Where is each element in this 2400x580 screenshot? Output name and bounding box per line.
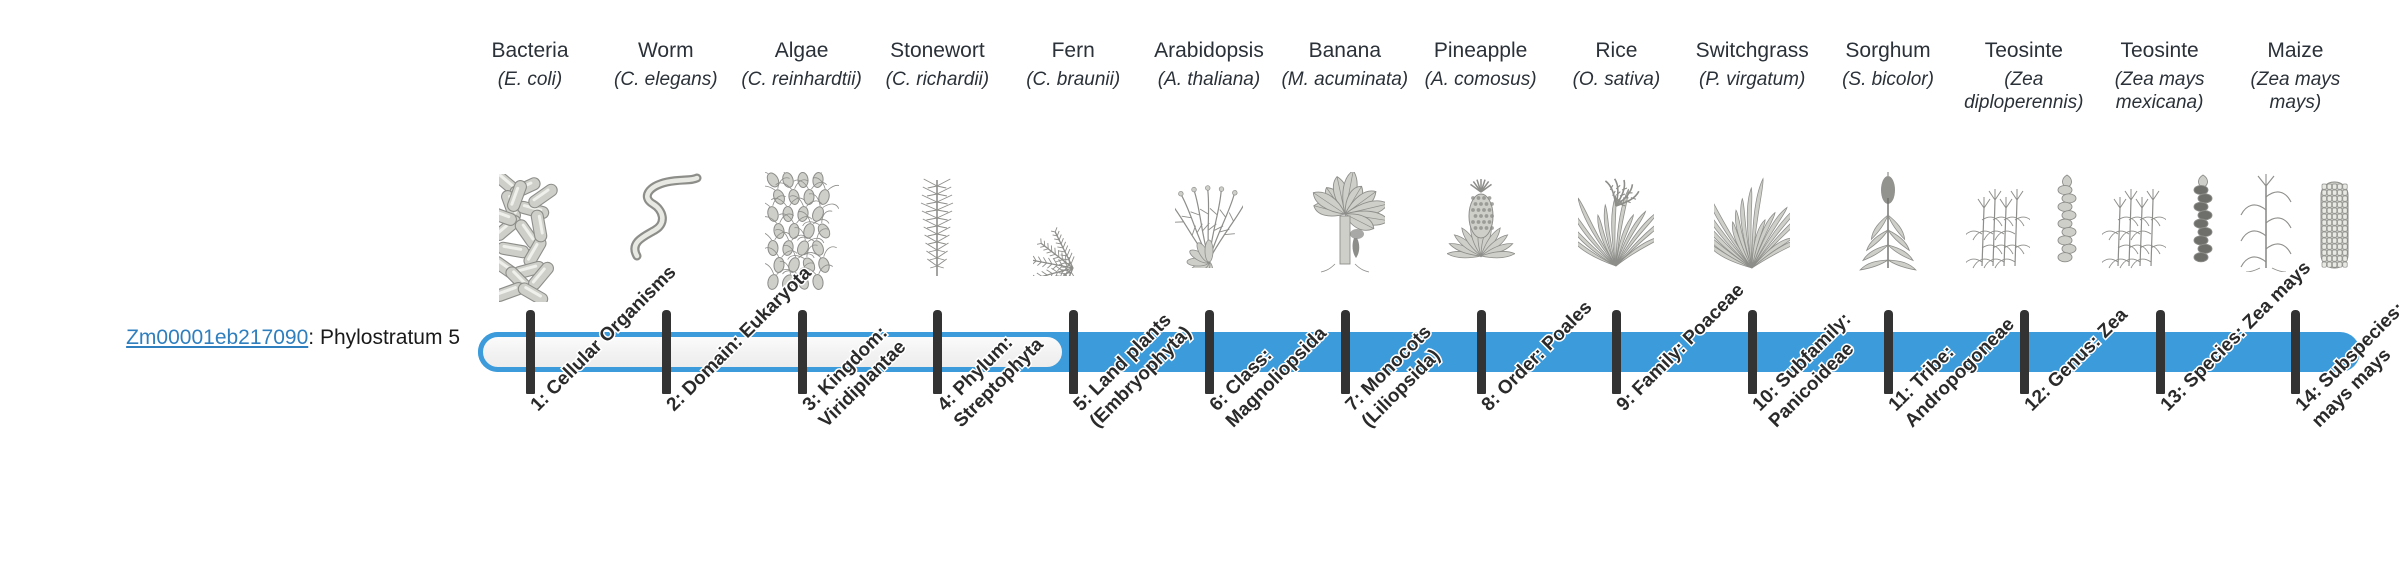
phylostratigraphy-figure: Zm00001eb217090: Phylostratum 5 Bacteria… <box>0 0 2400 580</box>
species-common-name: Teosinte <box>2092 38 2228 63</box>
gene-label-separator: : <box>308 326 320 349</box>
species-common-name: Arabidopsis <box>1141 38 1277 63</box>
phylostratum-value: Phylostratum 5 <box>320 326 460 349</box>
gene-phylostratum-label: Zm00001eb217090: Phylostratum 5 <box>30 325 460 351</box>
phylostratum-tick-7[interactable] <box>1341 310 1350 394</box>
species-scientific-name: (C. braunii) <box>1005 68 1141 91</box>
species-scientific-name: (C. elegans) <box>598 68 734 91</box>
phylostratum-tick-8[interactable] <box>1477 310 1486 394</box>
species-scientific-name: (O. sativa) <box>1548 68 1684 91</box>
algae-cells-illustration <box>734 172 870 267</box>
species-scientific-name: (S. bicolor) <box>1820 68 1956 91</box>
phylostratum-tick-12[interactable] <box>2020 310 2029 394</box>
maize-ear-illustration <box>2227 172 2363 267</box>
species-common-name: Fern <box>1005 38 1141 63</box>
phylostratum-tick-11[interactable] <box>1884 310 1893 394</box>
phylostratum-tick-10[interactable] <box>1748 310 1757 394</box>
phylostratum-tick-3[interactable] <box>798 310 807 394</box>
rice-plant-illustration <box>1548 172 1684 267</box>
switchgrass-illustration <box>1684 172 1820 267</box>
pineapple-illustration <box>1413 172 1549 267</box>
phylostratum-tick-14[interactable] <box>2291 310 2300 394</box>
species-scientific-name: (E. coli) <box>462 68 598 91</box>
species-common-name: Banana <box>1277 38 1413 63</box>
phylostratum-tick-2[interactable] <box>662 310 671 394</box>
species-scientific-name: (C. richardii) <box>869 68 1005 91</box>
species-common-name: Worm <box>598 38 734 63</box>
phylostratum-tick-9[interactable] <box>1612 310 1621 394</box>
species-common-name: Sorghum <box>1820 38 1956 63</box>
species-common-name: Pineapple <box>1413 38 1549 63</box>
phylostratum-tick-5[interactable] <box>1069 310 1078 394</box>
species-common-name: Algae <box>734 38 870 63</box>
species-common-name: Rice <box>1548 38 1684 63</box>
species-common-name: Switchgrass <box>1684 38 1820 63</box>
teosinte-mexicana-illustration <box>2092 172 2228 267</box>
bacteria-rods-illustration <box>462 172 598 267</box>
phylostratum-tick-13[interactable] <box>2156 310 2165 394</box>
banana-palm-illustration <box>1277 172 1413 267</box>
teosinte-diploperennis-illustration <box>1956 172 2092 267</box>
gene-id-link[interactable]: Zm00001eb217090 <box>126 326 308 349</box>
phylostratum-tick-4[interactable] <box>933 310 942 394</box>
species-scientific-name: (A. comosus) <box>1413 68 1549 91</box>
phylostratum-tick-1[interactable] <box>526 310 535 394</box>
fern-frond-illustration <box>1005 172 1141 267</box>
species-scientific-name: (Zea mays mexicana) <box>2092 68 2228 114</box>
species-scientific-name: (M. acuminata) <box>1277 68 1413 91</box>
species-common-name: Maize <box>2227 38 2363 63</box>
arabidopsis-illustration <box>1141 172 1277 267</box>
species-common-name: Bacteria <box>462 38 598 63</box>
species-scientific-name: (P. virgatum) <box>1684 68 1820 91</box>
species-common-name: Teosinte <box>1956 38 2092 63</box>
species-scientific-name: (C. reinhardtii) <box>734 68 870 91</box>
sorghum-illustration <box>1820 172 1956 267</box>
species-scientific-name: (A. thaliana) <box>1141 68 1277 91</box>
species-scientific-name: (Zea diploperennis) <box>1956 68 2092 114</box>
nematode-worm-illustration <box>598 172 734 267</box>
species-scientific-name: (Zea mays mays) <box>2227 68 2363 114</box>
species-common-name: Stonewort <box>869 38 1005 63</box>
phylostratum-tick-6[interactable] <box>1205 310 1214 394</box>
stonewort-illustration <box>869 172 1005 267</box>
